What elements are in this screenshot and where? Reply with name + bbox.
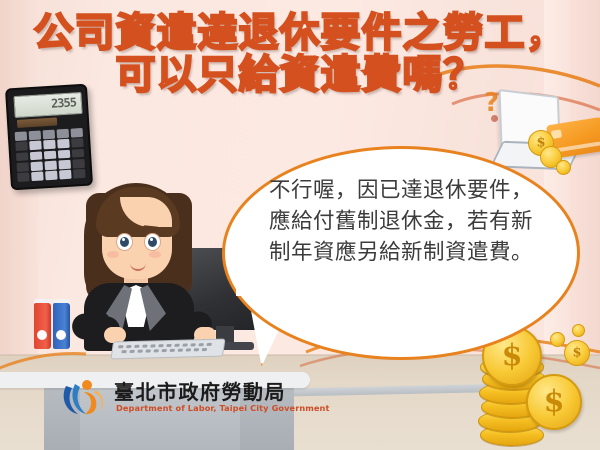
poster-canvas: 公司資遣達退休要件之勞工， 可以只給資遣費嗎？ 2355 ? $ <box>0 0 600 450</box>
eye-right <box>144 233 161 251</box>
logo-name-en: Department of Labor, Taipei City Governm… <box>116 403 330 413</box>
coin-small-icon-3: $ <box>564 340 590 366</box>
labor-department-logo-icon <box>62 378 108 418</box>
coin-symbol: $ <box>528 385 580 420</box>
logo-name-zh: 臺北市政府勞動局 <box>114 376 286 405</box>
businesswoman-character <box>78 175 228 350</box>
keyboard-illustration <box>110 339 225 360</box>
calculator-screen: 2355 <box>13 92 82 118</box>
speech-bubble-tail-joint <box>236 262 306 296</box>
coin-face-front: $ <box>526 374 582 430</box>
coin-tiny-icon-3 <box>572 324 585 337</box>
coin-symbol: $ <box>565 346 589 361</box>
coin-tiny-icon <box>556 160 571 175</box>
calculator-keypad <box>15 128 86 182</box>
coin-tiny-icon-2 <box>550 332 565 347</box>
title-line-1: 公司資遣達退休要件之勞工， <box>0 12 600 54</box>
speech-bubble: 不行喔，因已達退休要件，應給付舊制退休金，若有新制年資應另給新制資遣費。 <box>222 146 580 360</box>
poster-title: 公司資遣達退休要件之勞工， 可以只給資遣費嗎？ <box>0 12 600 97</box>
calculator-display-value: 2355 <box>51 95 77 110</box>
binder-red <box>34 303 51 349</box>
cheek-left <box>107 251 119 258</box>
binder-blue <box>53 303 70 349</box>
calculator-solar-panel <box>17 117 57 127</box>
cheek-right <box>149 251 161 258</box>
eye-left <box>116 233 133 251</box>
speech-bubble-text: 不行喔，因已達退休要件，應給付舊制退休金，若有新制年資應另給新制資遣費。 <box>269 175 537 269</box>
